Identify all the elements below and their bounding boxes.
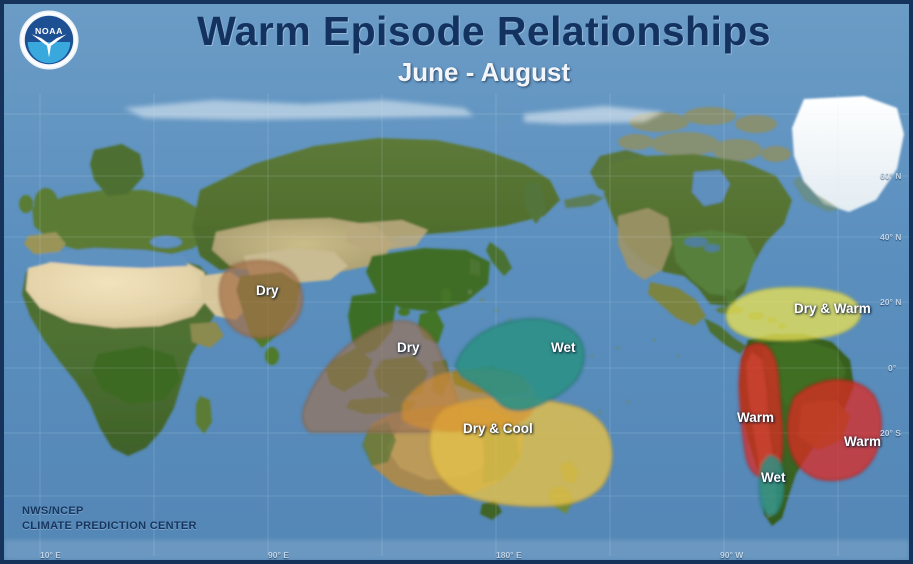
warm-episode-relationships-figure: NOAA Warm Episode Relationships June - A…: [0, 0, 913, 564]
world-map: [4, 4, 909, 560]
hainan: [398, 308, 410, 316]
region-wet-chile: [759, 456, 784, 516]
antarctic-hint: [4, 540, 909, 560]
black-sea: [150, 236, 182, 248]
region-dry-warm-caribbean: [726, 288, 860, 341]
region-warm-east-brazil: [788, 380, 881, 480]
region-dry-india: [220, 261, 303, 338]
sri-lanka: [265, 347, 279, 365]
